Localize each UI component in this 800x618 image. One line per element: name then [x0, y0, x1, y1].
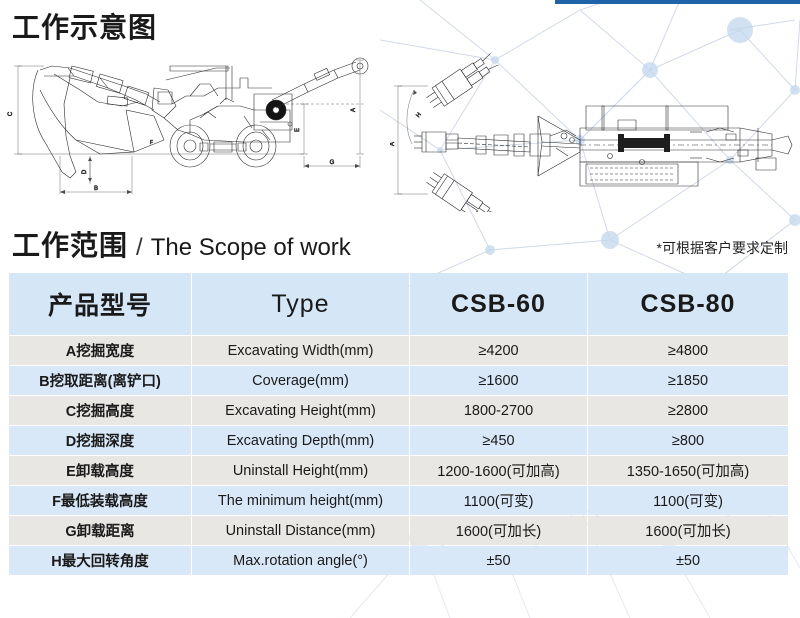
section-title-scope-of-work: 工作范围 / The Scope of work: [12, 224, 351, 264]
row-value-csb80: 1350-1650(可加高): [588, 456, 788, 485]
row-value-csb80: ±50: [588, 546, 788, 575]
scope-title-english: The Scope of work: [151, 234, 351, 262]
table-header-row: 产品型号 Type CSB-60 CSB-80: [9, 273, 788, 335]
table-row: C挖掘高度 Excavating Height(mm) 1800-2700 ≥2…: [9, 396, 788, 425]
customization-note: *可根据客户要求定制: [657, 238, 788, 258]
row-label: F最低装载高度: [9, 486, 191, 515]
top-accent-bar: [555, 0, 800, 4]
table-row: G卸载距离 Uninstall Distance(mm) 1600(可加长) 1…: [9, 516, 788, 545]
scope-title-chinese: 工作范围: [12, 224, 128, 264]
row-label: B挖取距离(离铲口): [9, 366, 191, 395]
row-value-csb60: ≥1600: [410, 366, 587, 395]
table-row: D挖掘深度 Excavating Depth(mm) ≥450 ≥800: [9, 426, 788, 455]
side-view-technical-drawing: C B D E A G F: [4, 44, 376, 212]
svg-text:B: B: [94, 186, 98, 192]
table-row: B挖取距离(离铲口) Coverage(mm) ≥1600 ≥1850: [9, 366, 788, 395]
table-header-csb80: CSB-80: [588, 273, 788, 335]
table-header-csb60: CSB-60: [410, 273, 587, 335]
row-label: G卸载距离: [9, 516, 191, 545]
row-type: Coverage(mm): [192, 366, 409, 395]
top-view-technical-drawing: A H: [390, 44, 796, 212]
row-type: Uninstall Height(mm): [192, 456, 409, 485]
row-value-csb80: ≥800: [588, 426, 788, 455]
svg-text:G: G: [330, 160, 335, 166]
svg-text:A: A: [390, 142, 396, 146]
row-type: The minimum height(mm): [192, 486, 409, 515]
row-value-csb60: 1800-2700: [410, 396, 587, 425]
product-spec-page: 工作示意图: [0, 0, 800, 618]
row-label: C挖掘高度: [9, 396, 191, 425]
specification-table-body: A挖掘宽度 Excavating Width(mm) ≥4200 ≥4800 B…: [9, 336, 788, 575]
specification-table: 产品型号 Type CSB-60 CSB-80 A挖掘宽度 Excavating…: [8, 272, 789, 576]
table-row: F最低装载高度 The minimum height(mm) 1100(可变) …: [9, 486, 788, 515]
row-label: H最大回转角度: [9, 546, 191, 575]
row-value-csb60: 1600(可加长): [410, 516, 587, 545]
svg-text:A: A: [351, 108, 357, 112]
row-value-csb80: ≥2800: [588, 396, 788, 425]
row-value-csb80: 1100(可变): [588, 486, 788, 515]
table-header-type: Type: [192, 273, 409, 335]
row-value-csb80: 1600(可加长): [588, 516, 788, 545]
row-type: Excavating Depth(mm): [192, 426, 409, 455]
table-header-model: 产品型号: [9, 273, 191, 335]
svg-text:D: D: [82, 169, 88, 174]
table-row: E卸载高度 Uninstall Height(mm) 1200-1600(可加高…: [9, 456, 788, 485]
row-label: A挖掘宽度: [9, 336, 191, 365]
page-title-working-diagram: 工作示意图: [12, 6, 157, 46]
row-value-csb60: 1100(可变): [410, 486, 587, 515]
row-value-csb60: ±50: [410, 546, 587, 575]
row-label: D挖掘深度: [9, 426, 191, 455]
row-value-csb80: ≥4800: [588, 336, 788, 365]
row-value-csb80: ≥1850: [588, 366, 788, 395]
row-value-csb60: ≥450: [410, 426, 587, 455]
row-type: Max.rotation angle(°): [192, 546, 409, 575]
row-type: Excavating Width(mm): [192, 336, 409, 365]
row-value-csb60: ≥4200: [410, 336, 587, 365]
row-value-csb60: 1200-1600(可加高): [410, 456, 587, 485]
row-type: Excavating Height(mm): [192, 396, 409, 425]
table-row: H最大回转角度 Max.rotation angle(°) ±50 ±50: [9, 546, 788, 575]
svg-text:H: H: [416, 112, 423, 119]
row-label: E卸载高度: [9, 456, 191, 485]
row-type: Uninstall Distance(mm): [192, 516, 409, 545]
svg-text:E: E: [295, 128, 301, 132]
table-row: A挖掘宽度 Excavating Width(mm) ≥4200 ≥4800: [9, 336, 788, 365]
scope-title-separator: /: [136, 234, 143, 262]
svg-text:C: C: [8, 111, 14, 116]
